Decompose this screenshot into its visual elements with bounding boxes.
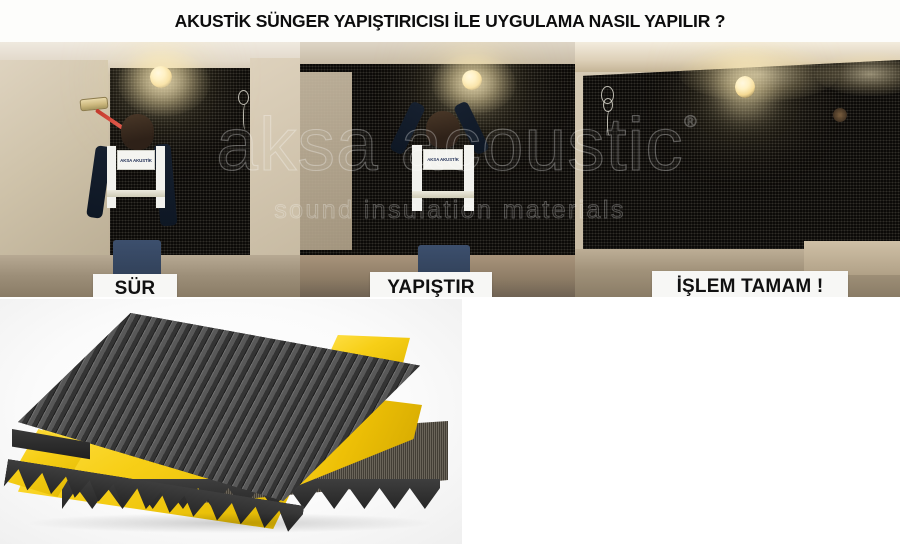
ceiling-lamp-icon — [150, 66, 172, 88]
step-label-text: YAPIŞTIR — [387, 277, 474, 299]
vest-reflective-stripe — [107, 190, 165, 197]
worker-figure: AKSA AKUSTİK — [398, 97, 494, 297]
poster-root: AKUSTİK SÜNGER YAPIŞTIRICISI İLE UYGULAM… — [0, 0, 900, 546]
vest-trim-left — [107, 146, 116, 208]
hanging-cable-tail — [607, 110, 614, 136]
side-wall — [250, 58, 300, 270]
step-label-text: İŞLEM TAMAM ! — [677, 276, 824, 298]
ceiling-lamp-icon — [462, 70, 482, 90]
vest-trim-right — [464, 145, 474, 211]
stair-step — [804, 241, 900, 275]
vest-company-text: AKSA AKUSTİK — [427, 157, 459, 162]
product-pyramid-foam — [0, 299, 462, 544]
vest-trim-left — [412, 145, 422, 211]
vest-company-label: AKSA AKUSTİK — [117, 150, 155, 170]
worker-figure: AKSA AKUSTİK — [95, 114, 187, 297]
page-title: AKUSTİK SÜNGER YAPIŞTIRICISI İLE UYGULAM… — [175, 11, 726, 32]
hanging-cable-icon — [238, 90, 249, 105]
vest-company-label: AKSA AKUSTİK — [423, 149, 463, 170]
vest-reflective-stripe — [412, 191, 474, 198]
bottom-section: Kendinden yapışkanlı sünger ile de uygul… — [0, 297, 900, 546]
ceiling-lamp-icon — [735, 76, 755, 98]
wall-speaker-icon — [833, 108, 847, 122]
title-bar: AKUSTİK SÜNGER YAPIŞTIRICISI İLE UYGULAM… — [0, 0, 900, 42]
new-foam-sheet — [300, 72, 352, 250]
photo-mount-foam: AKSA AKUSTİK — [300, 42, 575, 297]
vest-company-text: AKSA AKUSTİK — [120, 158, 152, 163]
photo-apply-adhesive: AKSA AKUSTİK — [0, 42, 300, 297]
vest-trim-right — [156, 146, 165, 208]
photo-strip: AKSA AKUSTİK — [0, 42, 900, 297]
hanging-cable-tail — [243, 104, 249, 130]
product-shadow — [30, 513, 430, 533]
photo-finished-wall — [575, 42, 900, 297]
